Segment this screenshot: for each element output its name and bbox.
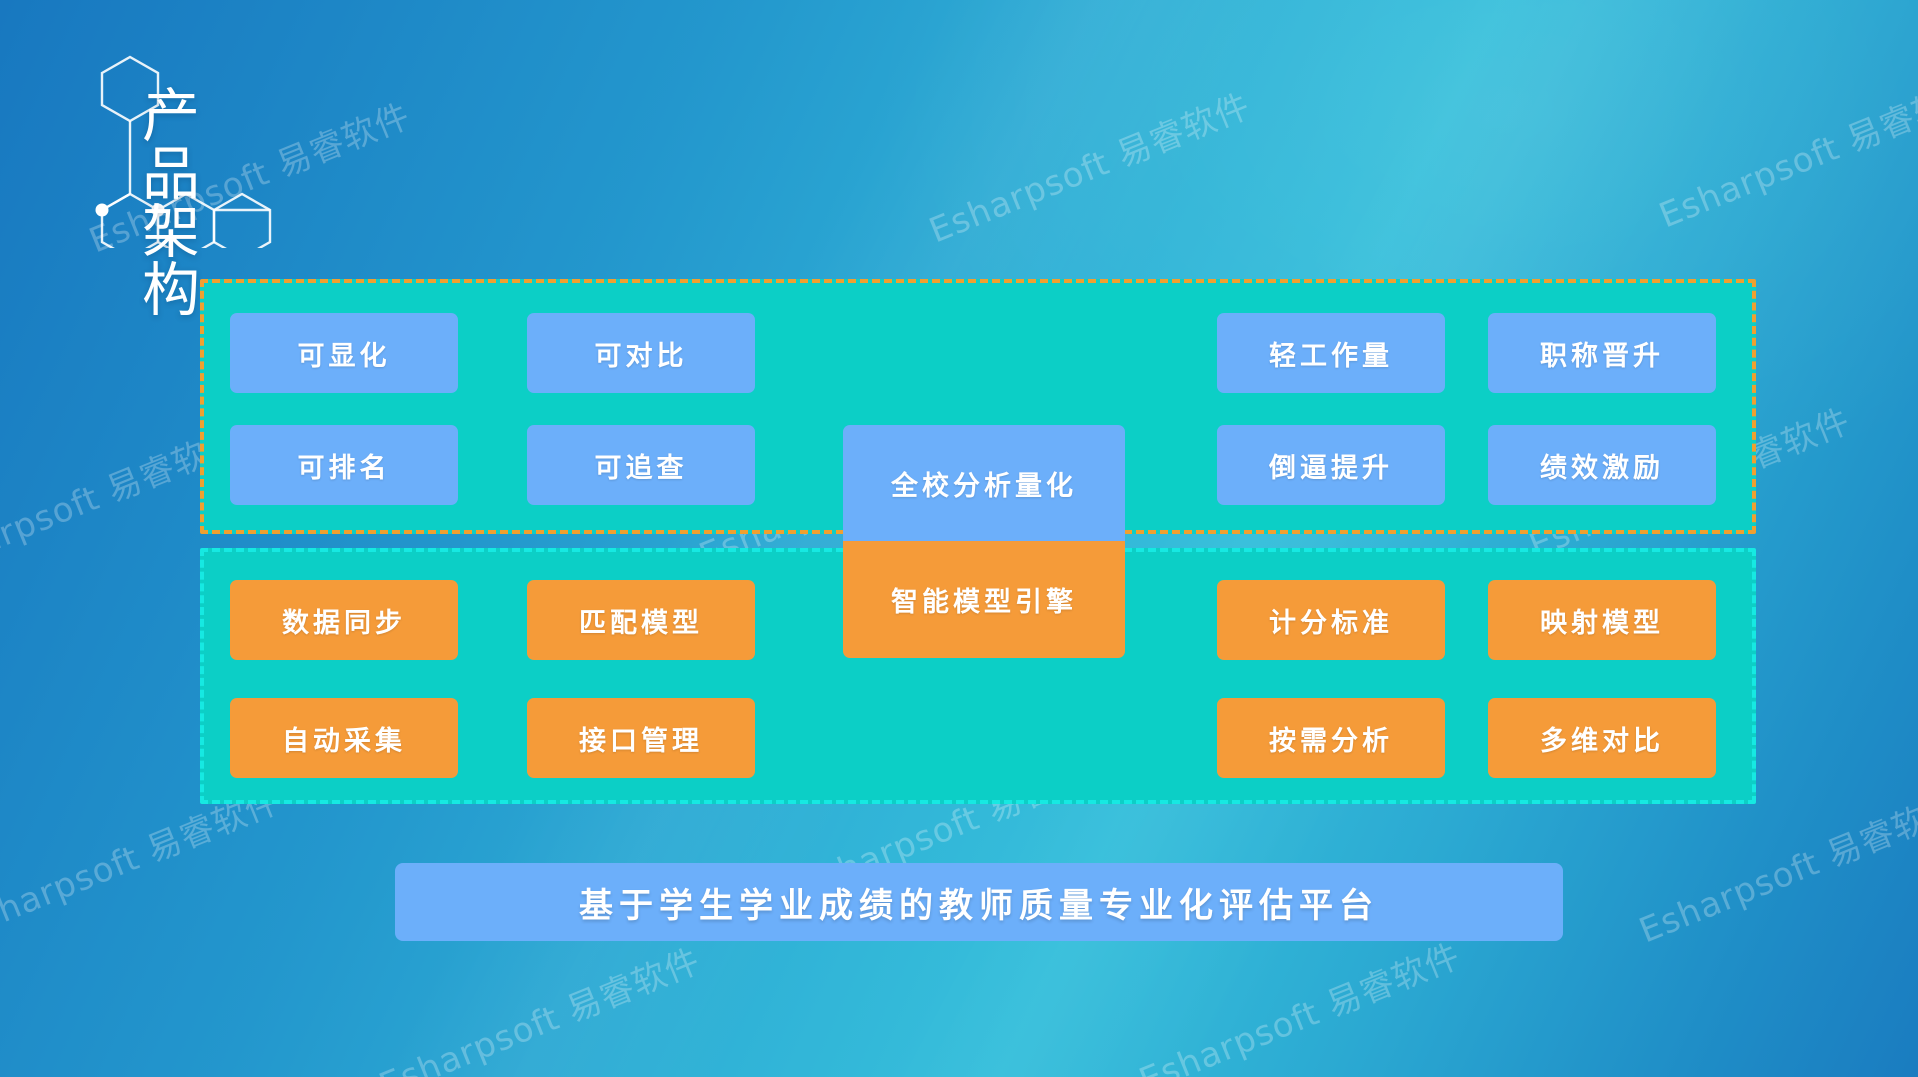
watermark-text: Esharpsoft 易睿软件 (1131, 929, 1467, 1077)
engine-box[interactable]: 多维对比 (1488, 698, 1716, 778)
engine-box[interactable]: 映射模型 (1488, 580, 1716, 660)
watermark-text: Esharpsoft 易睿软件 (1631, 779, 1918, 953)
center-engine-box[interactable]: 智能模型引擎 (843, 541, 1125, 658)
engine-box[interactable]: 接口管理 (527, 698, 755, 778)
capability-box[interactable]: 绩效激励 (1488, 425, 1716, 505)
watermark-text: Esharpsoft 易睿软件 (371, 934, 707, 1077)
capability-box[interactable]: 可追查 (527, 425, 755, 505)
slide-canvas: Esharpsoft 易睿软件 Esharpsoft 易睿软件 Esharpso… (0, 0, 1918, 1077)
engine-box[interactable]: 匹配模型 (527, 580, 755, 660)
page-title: 产品架构 (142, 88, 204, 320)
center-analysis-box[interactable]: 全校分析量化 (843, 425, 1125, 541)
engine-box[interactable]: 数据同步 (230, 580, 458, 660)
capability-box[interactable]: 可排名 (230, 425, 458, 505)
center-core-stack: 全校分析量化 智能模型引擎 (843, 425, 1125, 658)
watermark-text: Esharpsoft 易睿软件 (1651, 64, 1918, 238)
capability-box[interactable]: 可对比 (527, 313, 755, 393)
capability-box[interactable]: 倒逼提升 (1217, 425, 1445, 505)
watermark-text: Esharpsoft 易睿软件 (921, 79, 1257, 253)
engine-box[interactable]: 计分标准 (1217, 580, 1445, 660)
capability-box[interactable]: 职称晋升 (1488, 313, 1716, 393)
engine-box[interactable]: 自动采集 (230, 698, 458, 778)
platform-footer-bar[interactable]: 基于学生学业成绩的教师质量专业化评估平台 (395, 863, 1563, 941)
capability-box[interactable]: 轻工作量 (1217, 313, 1445, 393)
engine-box[interactable]: 按需分析 (1217, 698, 1445, 778)
capability-box[interactable]: 可显化 (230, 313, 458, 393)
